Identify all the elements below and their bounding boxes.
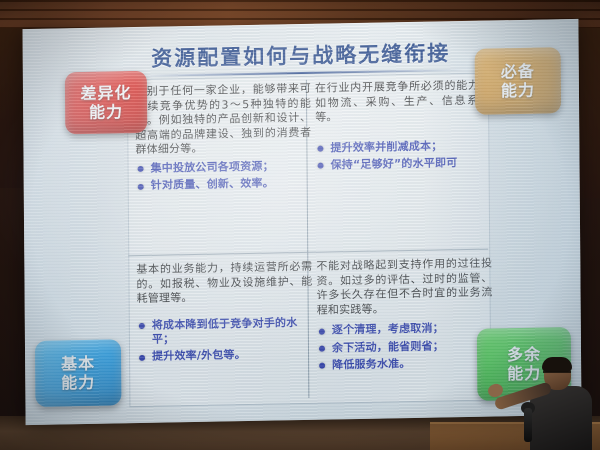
left-top-paragraph: 有别于任何一家企业，能够带来可持续竞争优势的3～5种独特的能力。例如独特的产品创… (135, 82, 312, 158)
list-item: 逐个清理，考虑取消； (317, 321, 493, 338)
bullet-dot-icon (138, 184, 144, 190)
badge-line-1: 基本 (61, 354, 95, 374)
list-item: 集中投放公司各项资源； (136, 159, 312, 176)
left-bottom-paragraph: 基本的业务能力，持续运营所必需的。如报税、物业及设施维护、能耗管理等。 (136, 260, 312, 307)
bullet-dot-icon (318, 163, 324, 169)
list-item: 提升效率/外包等。 (137, 347, 313, 364)
bullet-dot-icon (319, 328, 325, 334)
badge-line-2: 能力 (61, 373, 95, 393)
list-item: 提升效率并削减成本； (315, 138, 491, 155)
projection-screen: 资源配置如何与战略无缝衔接 有别于任何一家企业，能够带来可持续竞争优势的3～5种… (22, 19, 581, 425)
quadrant-must-have-text: 在行业内开展竞争所必须的能力。如物流、采购、生产、信息系统等。 提升效率并削减成… (315, 79, 492, 176)
list-item: 降低服务水准。 (317, 355, 493, 372)
list-item: 将成本降到低于竞争对手的水平； (137, 316, 313, 348)
badge-must-have-capability: 必备 能力 (475, 47, 562, 115)
list-item: 余下活动，能省则省； (317, 338, 493, 355)
bullet-text: 集中投放公司各项资源； (151, 159, 274, 174)
glasses-icon (543, 371, 571, 378)
bullet-text: 针对质量、创新、效率。 (151, 177, 274, 192)
badge-differentiating-capability: 差异化 能力 (65, 71, 147, 135)
quadrant-surplus-text: 不能对战略起到支持作用的过往投资。如过多的评估、过时的监管、许多长久存在但不合时… (316, 257, 493, 376)
bullet-text: 提升效率并削减成本； (330, 139, 442, 154)
badge-line-1: 差异化 (80, 83, 131, 103)
list-item: 保持“足够好”的水平即可 (316, 156, 492, 173)
slide-canvas: 资源配置如何与战略无缝衔接 有别于任何一家企业，能够带来可持续竞争优势的3～5种… (22, 19, 581, 425)
bullet-dot-icon (139, 355, 145, 361)
bullet-dot-icon (138, 166, 144, 172)
left-top-bullets: 集中投放公司各项资源； 针对质量、创新、效率。 (136, 159, 312, 194)
left-bottom-bullets: 将成本降到低于竞争对手的水平； 提升效率/外包等。 (137, 316, 313, 365)
microphone-icon (524, 408, 532, 442)
bullet-text: 逐个清理，考虑取消； (332, 322, 444, 337)
badge-line-2: 能力 (501, 81, 535, 101)
bullet-text: 保持“足够好”的水平即可 (331, 156, 458, 171)
bullet-text: 提升效率/外包等。 (152, 348, 246, 363)
presenter-silhouette (506, 352, 600, 450)
right-top-paragraph: 在行业内开展竞争所必须的能力。如物流、采购、生产、信息系统等。 (315, 79, 491, 126)
photo-of-presentation: 资源配置如何与战略无缝衔接 有别于任何一家企业，能够带来可持续竞争优势的3～5种… (0, 0, 600, 450)
bullet-text: 降低服务水准。 (332, 357, 410, 371)
quadrant-basic-text: 基本的业务能力，持续运营所必需的。如报税、物业及设施维护、能耗管理等。 将成本降… (136, 260, 313, 368)
bullet-dot-icon (317, 146, 323, 152)
right-bottom-paragraph: 不能对战略起到支持作用的过往投资。如过多的评估、过时的监管、许多长久存在但不合时… (316, 257, 492, 319)
list-item: 针对质量、创新、效率。 (136, 176, 312, 193)
bullet-dot-icon (319, 363, 325, 369)
quadrant-differentiating-text: 有别于任何一家企业，能够带来可持续竞争优势的3～5种独特的能力。例如独特的产品创… (135, 82, 312, 197)
bullet-text: 余下活动，能省则省； (332, 339, 444, 354)
badge-line-2: 能力 (89, 102, 123, 122)
bullet-dot-icon (319, 346, 325, 352)
right-bottom-bullets: 逐个清理，考虑取消； 余下活动，能省则省； 降低服务水准。 (317, 321, 493, 373)
bullet-dot-icon (139, 323, 145, 329)
presenter-hair (542, 357, 572, 372)
badge-basic-capability: 基本 能力 (35, 339, 122, 407)
badge-line-1: 必备 (501, 62, 535, 82)
bullet-text: 将成本降到低于竞争对手的水平； (152, 316, 298, 346)
right-top-bullets: 提升效率并削减成本； 保持“足够好”的水平即可 (315, 138, 491, 173)
